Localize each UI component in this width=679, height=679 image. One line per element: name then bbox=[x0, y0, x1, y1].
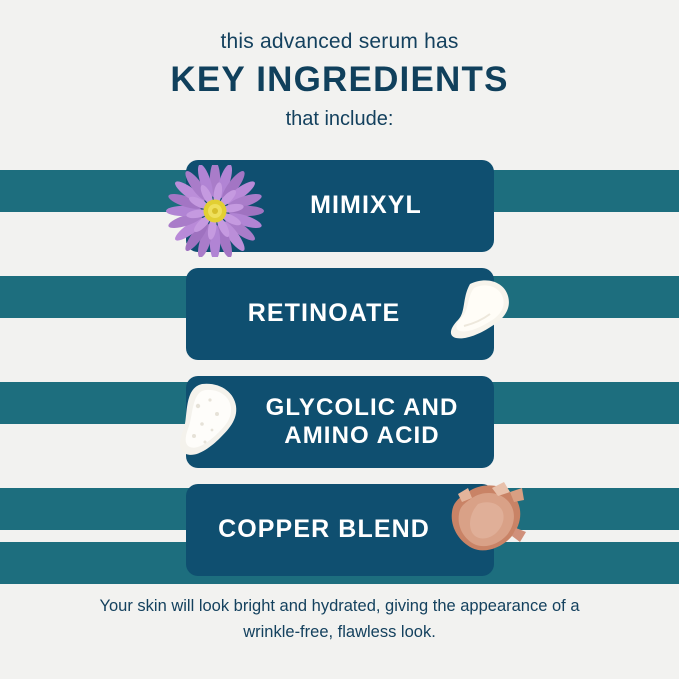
ingredient-card-mimixyl[interactable]: MIMIXYL bbox=[186, 160, 494, 252]
ingredient-label: MIMIXYL bbox=[296, 191, 436, 221]
ingredient-label: RETINOATE bbox=[234, 299, 415, 329]
heading-line-3: that include: bbox=[0, 108, 679, 131]
ingredient-label: GLYCOLIC AND AMINO ACID bbox=[252, 394, 473, 451]
ingredients-infographic: this advanced serum has KEY INGREDIENTS … bbox=[0, 0, 679, 679]
footer-line-2: wrinkle-free, flawless look. bbox=[60, 620, 619, 646]
ingredient-card-glycolic-amino-acid[interactable]: GLYCOLIC AND AMINO ACID bbox=[186, 376, 494, 468]
ingredient-label: COPPER BLEND bbox=[204, 515, 444, 545]
footer-text: Your skin will look bright and hydrated,… bbox=[60, 594, 619, 645]
ingredient-card-copper-blend[interactable]: COPPER BLEND bbox=[186, 484, 494, 576]
ingredient-label-line-2: AMINO ACID bbox=[266, 422, 459, 450]
heading-block: this advanced serum has KEY INGREDIENTS … bbox=[0, 30, 679, 131]
ingredient-label-line-1: GLYCOLIC AND bbox=[266, 394, 459, 422]
footer-line-1: Your skin will look bright and hydrated,… bbox=[60, 594, 619, 620]
heading-line-1: this advanced serum has bbox=[0, 30, 679, 54]
ingredient-card-retinoate[interactable]: RETINOATE bbox=[186, 268, 494, 360]
page-title: KEY INGREDIENTS bbox=[0, 60, 679, 100]
